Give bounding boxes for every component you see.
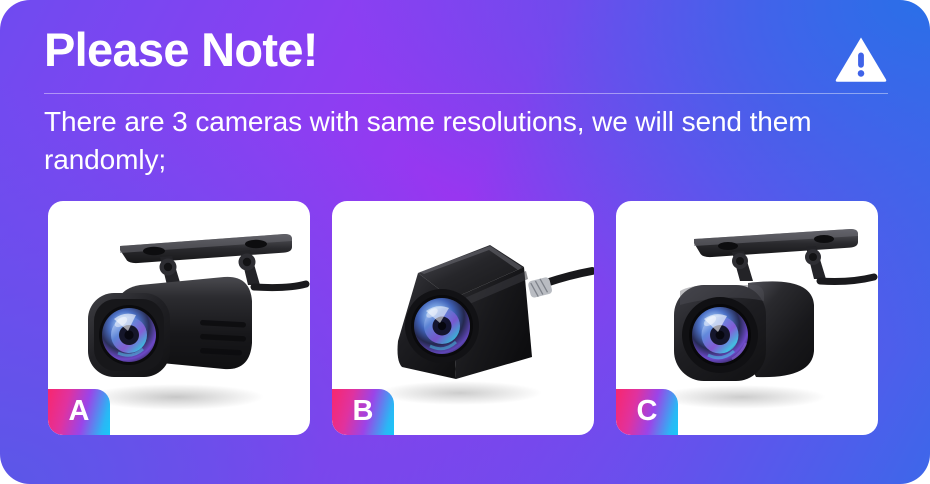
camera-card-a[interactable]: A	[48, 201, 310, 435]
badge-label: C	[637, 397, 658, 428]
camera-card-b[interactable]: B	[332, 201, 594, 435]
card-badge-b: B	[332, 389, 394, 435]
banner-subtitle: There are 3 cameras with same resolution…	[44, 103, 894, 179]
card-badge-c: C	[616, 389, 678, 435]
header-divider	[44, 93, 888, 94]
badge-label: A	[69, 397, 90, 428]
page-title: Please Note!	[44, 22, 888, 78]
camera-card-list: A	[48, 201, 878, 435]
card-badge-a: A	[48, 389, 110, 435]
badge-label: B	[353, 397, 374, 428]
warning-triangle-icon	[834, 32, 888, 86]
please-note-banner: Please Note! There are 3 cameras with sa…	[0, 0, 930, 484]
camera-card-c[interactable]: C	[616, 201, 878, 435]
banner-header: Please Note!	[44, 22, 888, 78]
